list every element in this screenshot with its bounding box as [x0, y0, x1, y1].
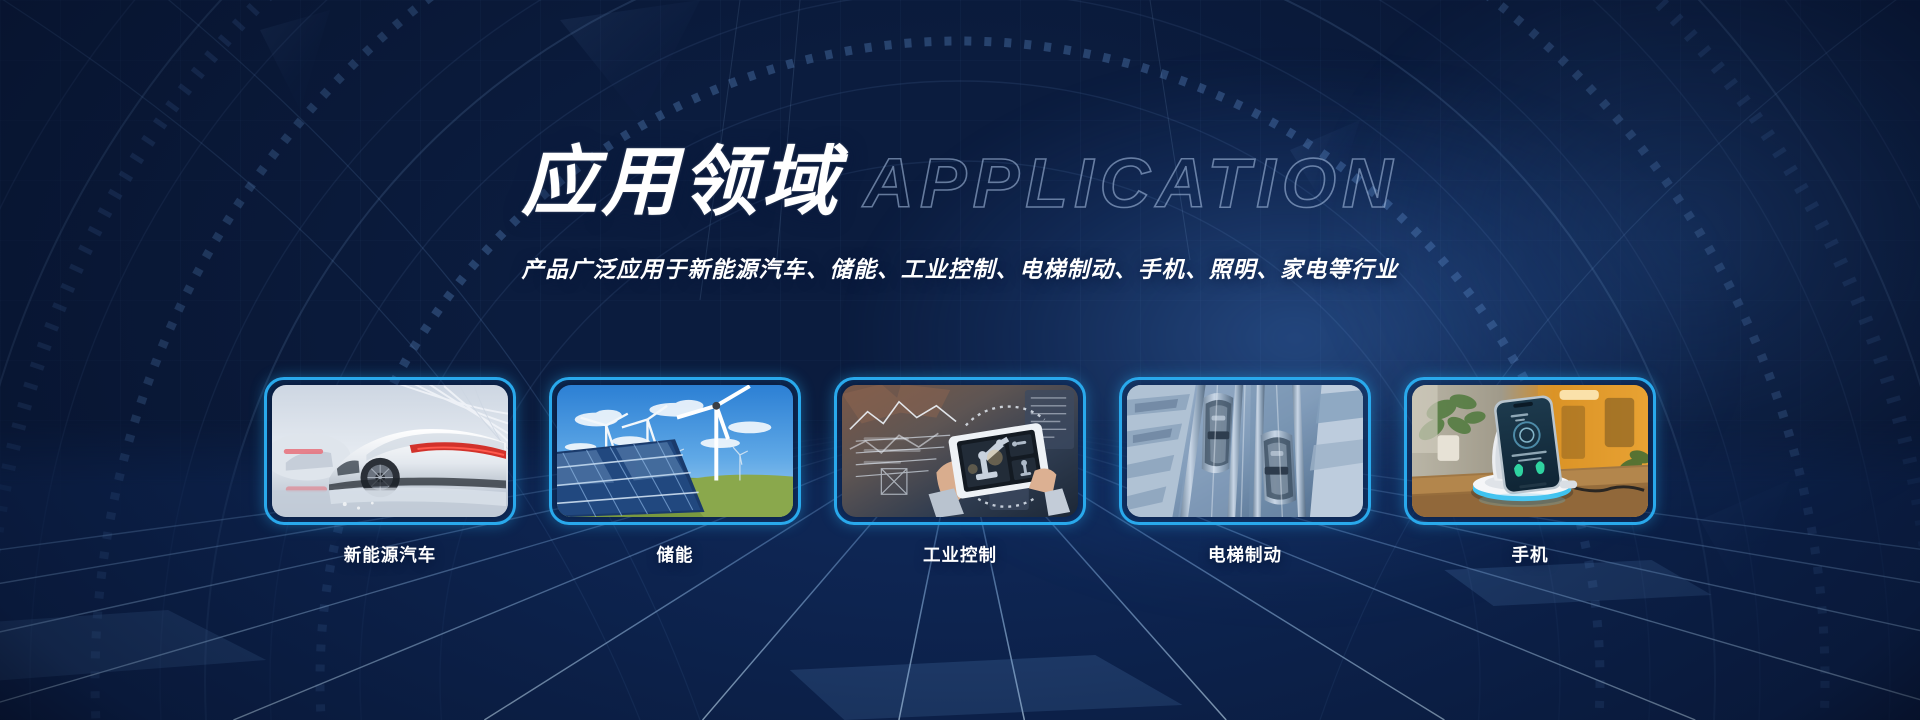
- new-energy-vehicle-photo: [272, 385, 508, 517]
- card-frame: [1404, 377, 1656, 525]
- title-row: 应用领域 APPLICATION: [0, 128, 1920, 238]
- card-label: 储能: [549, 542, 801, 567]
- application-card[interactable]: 电梯制动: [1119, 377, 1371, 567]
- application-card[interactable]: 工业控制: [834, 377, 1086, 567]
- application-card-list: 新能源汽车: [0, 377, 1920, 567]
- energy-storage-photo: [557, 385, 793, 517]
- card-label: 工业控制: [834, 542, 1086, 567]
- application-banner: 应用领域 APPLICATION 产品广泛应用于新能源汽车、储能、工业控制、电梯…: [0, 0, 1920, 720]
- card-label: 电梯制动: [1119, 542, 1371, 567]
- elevator-braking-photo: [1127, 385, 1363, 517]
- application-card[interactable]: 手机: [1404, 377, 1656, 567]
- card-frame: [834, 377, 1086, 525]
- page-title: 应用领域: [521, 145, 841, 221]
- banner-header: 应用领域 APPLICATION 产品广泛应用于新能源汽车、储能、工业控制、电梯…: [0, 0, 1920, 284]
- card-label: 新能源汽车: [264, 542, 516, 567]
- application-card[interactable]: 新能源汽车: [264, 377, 516, 567]
- application-card[interactable]: 储能: [549, 377, 801, 567]
- card-frame: [549, 377, 801, 525]
- card-label: 手机: [1404, 542, 1656, 567]
- card-frame: [1119, 377, 1371, 525]
- card-frame: [264, 377, 516, 525]
- mobile-phone-photo: [1412, 385, 1648, 517]
- industrial-control-photo: [842, 385, 1078, 517]
- banner-subtitle: 产品广泛应用于新能源汽车、储能、工业控制、电梯制动、手机、照明、家电等行业: [0, 252, 1920, 284]
- page-title-english: APPLICATION: [863, 148, 1398, 218]
